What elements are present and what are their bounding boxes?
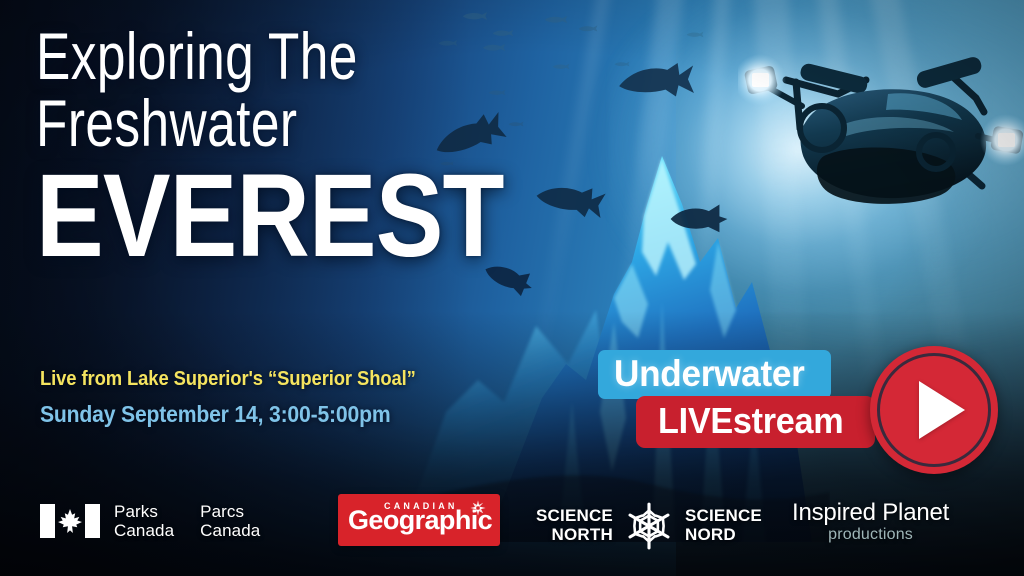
underwater-label: Underwater (614, 355, 805, 392)
page-title: Exploring The Freshwater EVEREST (36, 26, 456, 269)
parks-canada-en-line1: Parks (114, 502, 158, 521)
livestream-promo-poster: Exploring The Freshwater EVEREST Live fr… (0, 0, 1024, 576)
subtitle-block: Live from Lake Superior's “Superior Shoa… (40, 368, 480, 428)
livestream-label-chip: LIVEstream (636, 396, 875, 448)
snowflake-icon (623, 500, 675, 552)
science-north-en: SCIENCE NORTH (536, 507, 613, 544)
livestream-label: LIVEstream (658, 403, 843, 439)
play-button[interactable] (870, 346, 998, 474)
subtitle-location: Live from Lake Superior's “Superior Shoa… (40, 368, 445, 391)
inspired-planet-tagline: productions (792, 526, 949, 544)
title-line-2: Freshwater (36, 93, 364, 154)
parks-canada-fr-line2: Canada (200, 521, 260, 540)
play-triangle-icon (919, 381, 965, 439)
science-nord-fr: SCIENCE NORD (685, 507, 762, 544)
inspired-planet-name: Inspired Planet (792, 500, 949, 525)
sponsor-logo-bar: Parks Canada Parcs Canada CANADIAN Geogr… (0, 486, 1024, 576)
canadian-flag-icon (40, 504, 100, 538)
parks-canada-fr: Parcs Canada (200, 502, 260, 540)
science-north-logo: SCIENCE NORTH (536, 500, 762, 552)
science-north-en-line1: SCIENCE (536, 506, 613, 525)
science-north-en-line2: NORTH (552, 525, 613, 544)
inspired-planet-logo: Inspired Planet productions (792, 500, 949, 544)
parks-canada-fr-line1: Parcs (200, 502, 244, 521)
title-line-3: EVEREST (36, 165, 397, 269)
underwater-label-chip: Underwater (598, 350, 831, 399)
maple-leaf-icon (57, 507, 83, 535)
science-nord-fr-line1: SCIENCE (685, 506, 762, 525)
parks-canada-logo: Parks Canada Parcs Canada (40, 502, 260, 540)
compass-rose-icon (470, 500, 486, 516)
subtitle-datetime: Sunday September 14, 3:00-5:00pm (40, 401, 445, 428)
parks-canada-en: Parks Canada (114, 502, 174, 540)
title-line-1: Exploring The (36, 26, 364, 87)
livestream-badge[interactable]: Underwater LIVEstream (598, 344, 998, 474)
parks-canada-en-line2: Canada (114, 521, 174, 540)
canadian-geographic-logo: CANADIAN Geographic (338, 494, 500, 546)
science-nord-fr-line2: NORD (685, 525, 736, 544)
